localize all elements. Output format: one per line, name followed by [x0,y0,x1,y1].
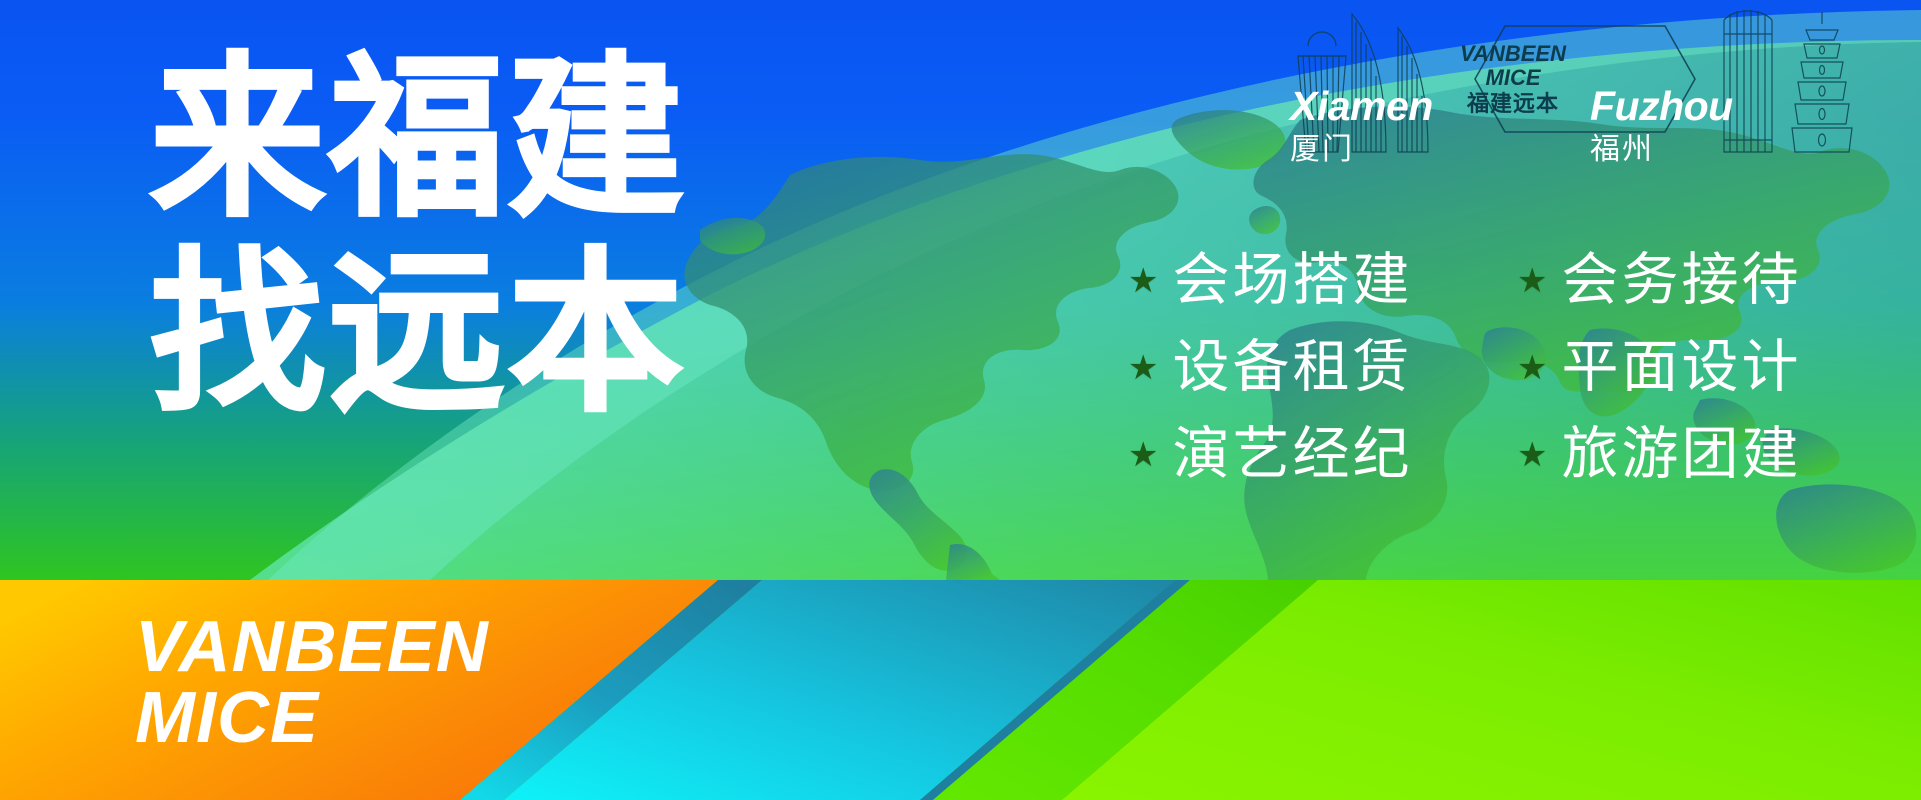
footer-brand-line-2: MICE [135,683,489,754]
footer-brand-line-1: VANBEEN [135,607,489,687]
footer-brand-logo: VANBEEN MICE [135,612,489,753]
service-label: 设备租赁 [1172,339,1412,396]
service-label: 平面设计 [1561,339,1801,396]
service-label: 演艺经纪 [1172,426,1412,483]
upper-content: 来福建 找远本 [0,0,1921,580]
city-fuzhou-en: Fuzhou [1590,86,1733,127]
star-icon: ★ [1517,351,1547,385]
star-icon: ★ [1517,438,1547,472]
star-icon: ★ [1128,351,1158,385]
page-title: 来福建 找远本 [150,38,687,438]
star-icon: ★ [1517,264,1547,298]
promotional-banner: 来福建 找远本 [0,0,1921,800]
service-item: ★ 设备租赁 [1128,339,1499,396]
services-list: ★ 会场搭建 ★ 会务接待 ★ 设备租赁 ★ 平面设计 ★ 演艺经纪 ★ 旅游团… [1128,252,1888,483]
brand-logo-hexagon: VANBEEN MICE 福建远本 [1438,24,1588,134]
service-item: ★ 演艺经纪 [1128,426,1499,483]
service-item: ★ 平面设计 [1517,339,1888,396]
service-label: 会务接待 [1561,252,1801,309]
brand-cn-name: 福建远本 [1467,93,1559,115]
fuzhou-pagoda-icon [1792,12,1852,152]
service-item: ★ 会场搭建 [1128,252,1499,309]
service-label: 会场搭建 [1172,252,1412,309]
city-fuzhou-cn: 福州 [1590,135,1733,165]
city-brand-bar: Xiamen 厦门 VANBEEN MICE 福建远本 Fuzhou 福州 [1290,0,1890,180]
brand-en-line-1: VANBEEN [1460,43,1566,65]
city-xiamen-en: Xiamen [1290,86,1433,127]
city-label-xiamen: Xiamen 厦门 [1290,86,1433,165]
star-icon: ★ [1128,438,1158,472]
footer-color-band: VANBEEN MICE [0,580,1921,800]
headline-line-1: 来福建 [150,38,687,243]
service-item: ★ 会务接待 [1517,252,1888,309]
service-item: ★ 旅游团建 [1517,426,1888,483]
city-xiamen-cn: 厦门 [1290,135,1433,165]
star-icon: ★ [1128,264,1158,298]
headline-line-2: 找远本 [150,233,687,438]
city-label-fuzhou: Fuzhou 福州 [1590,86,1733,165]
brand-en-line-2: MICE [1486,67,1541,89]
service-label: 旅游团建 [1561,426,1801,483]
